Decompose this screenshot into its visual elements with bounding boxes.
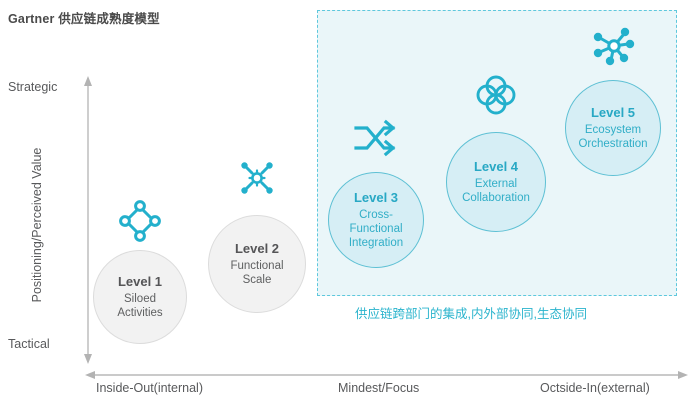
bubble-level-5-title: Level 5 <box>591 105 635 121</box>
bubble-level-3-sub-line2: Integration <box>345 236 407 250</box>
bubble-level-2-title: Level 2 <box>235 241 279 257</box>
bubble-level-4-sub-line2: Collaboration <box>458 191 534 205</box>
maturity-model-chart: Gartner 供应链成熟度模型 Strategic Tactical Posi… <box>0 0 700 402</box>
bubble-level-3[interactable]: Level 3 Cross-Functional Integration <box>328 172 424 268</box>
bubble-level-4-title: Level 4 <box>474 159 518 175</box>
x-tick-mindset-focus: Mindest/Focus <box>338 381 419 395</box>
bubble-level-5[interactable]: Level 5 Ecosystem Orchestration <box>565 80 661 176</box>
x-tick-inside-out: Inside-Out(internal) <box>96 381 203 395</box>
diamond-nodes-icon <box>117 198 163 244</box>
bubble-level-1[interactable]: Level 1 Siloed Activities <box>93 250 187 344</box>
shuffle-arrows-icon <box>352 118 400 158</box>
hub-network-icon <box>590 22 638 70</box>
bubble-level-1-sub-line1: Siloed <box>120 292 160 306</box>
page-title: Gartner 供应链成熟度模型 <box>8 8 160 27</box>
highlight-caption: 供应链跨部门的集成,内外部协同,生态协同 <box>355 303 587 322</box>
gear-network-icon <box>234 155 280 201</box>
bubble-level-1-sub-line2: Activities <box>113 306 166 320</box>
y-axis-title: Positioning/Perceived Value <box>30 145 44 305</box>
bubble-level-2-sub-line2: Scale <box>239 273 276 287</box>
bubble-level-3-sub-line1: Cross-Functional <box>329 208 423 236</box>
bubble-level-1-title: Level 1 <box>118 274 162 290</box>
quatrefoil-rings-icon <box>473 72 519 118</box>
axis-label-tactical: Tactical <box>8 337 50 351</box>
bubble-level-2-sub-line1: Functional <box>226 259 287 273</box>
bubble-level-3-title: Level 3 <box>354 190 398 206</box>
bubble-level-4[interactable]: Level 4 External Collaboration <box>446 132 546 232</box>
bubble-level-5-sub-line1: Ecosystem <box>581 123 645 137</box>
axis-label-strategic: Strategic <box>8 80 57 94</box>
x-tick-outside-in: Octside-In(external) <box>540 381 650 395</box>
bubble-level-4-sub-line1: External <box>471 177 521 191</box>
bubble-level-5-sub-line2: Orchestration <box>574 137 651 151</box>
bubble-level-2[interactable]: Level 2 Functional Scale <box>208 215 306 313</box>
